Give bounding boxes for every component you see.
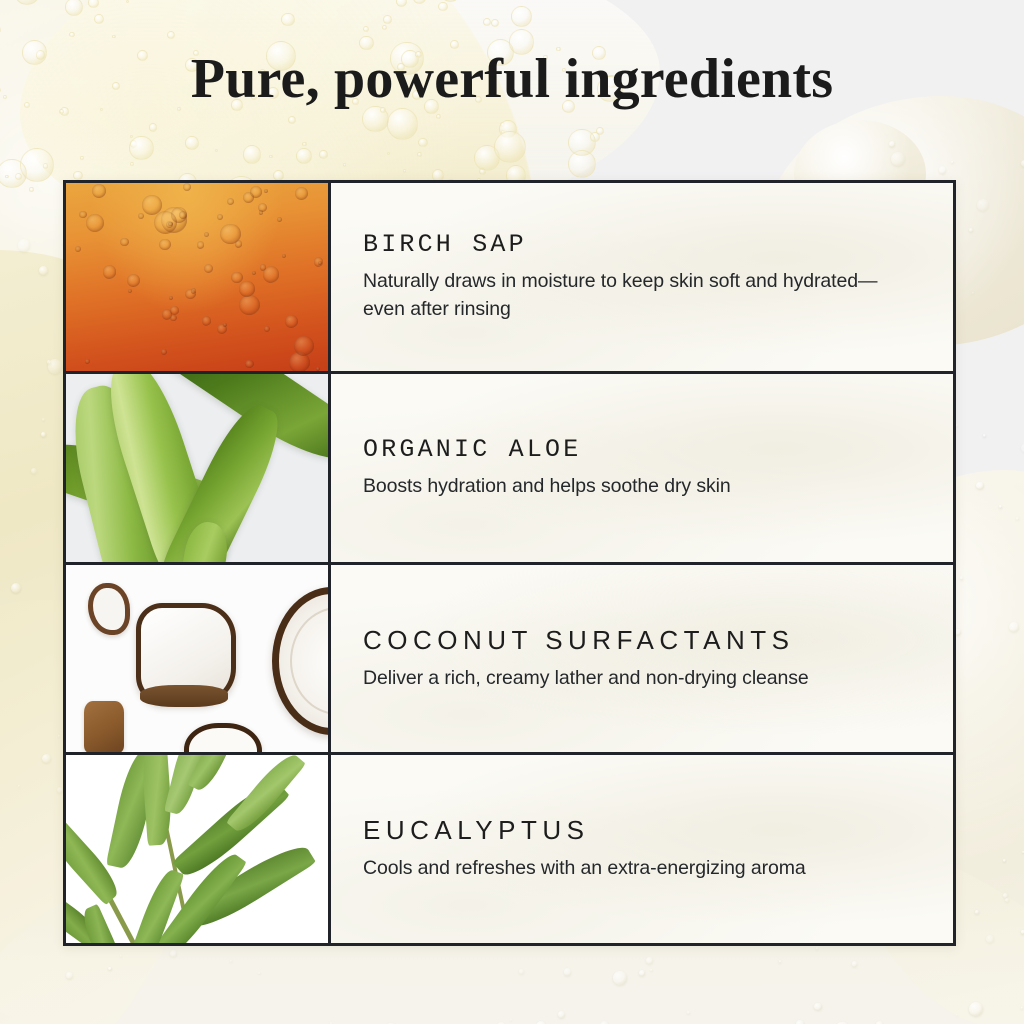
droplet (11, 583, 21, 593)
droplet (650, 969, 653, 972)
droplet (956, 1014, 958, 1016)
ingredient-description: Cools and refreshes with an extra-energi… (363, 855, 893, 883)
bubble (217, 214, 223, 220)
droplet (1016, 517, 1019, 520)
ingredient-name: COCONUT SURFACTANTS (363, 625, 927, 656)
bubble (260, 264, 267, 271)
droplet (41, 432, 46, 437)
bubble (154, 211, 177, 234)
bubble (227, 198, 235, 206)
table-row: COCONUT SURFACTANTS Deliver a rich, crea… (66, 565, 953, 756)
foam-bubble (80, 156, 83, 159)
droplet (646, 957, 653, 964)
foam-bubble (88, 0, 99, 8)
bubble (243, 192, 254, 203)
bubble (168, 222, 172, 226)
ingredient-description: Boosts hydration and helps soothe dry sk… (363, 473, 893, 501)
bubble (103, 265, 116, 278)
table-row: BIRCH SAP Naturally draws in moisture to… (66, 183, 953, 374)
bubble (245, 360, 254, 369)
bubble (86, 214, 104, 232)
ingredient-image-birch-sap (66, 183, 331, 371)
foam-bubble (243, 145, 262, 164)
bubble (282, 254, 286, 258)
foam-bubble (438, 2, 448, 12)
bubble (159, 239, 170, 250)
foam-bubble (568, 129, 596, 157)
foam-bubble (387, 108, 418, 139)
foam-bubble (343, 163, 347, 167)
foam-bubble (0, 159, 27, 189)
bubble (264, 189, 268, 193)
ingredient-text-birch-sap: BIRCH SAP Naturally draws in moisture to… (331, 183, 953, 371)
droplet (955, 629, 961, 635)
ingredient-name: BIRCH SAP (363, 230, 927, 259)
droplet (18, 239, 31, 252)
bubble (161, 349, 167, 355)
bubble (85, 359, 90, 364)
droplet (983, 434, 986, 437)
droplet (170, 950, 177, 957)
foam-bubble (65, 0, 83, 16)
ingredient-image-eucalyptus (66, 755, 331, 943)
bubble (285, 315, 298, 328)
droplet (230, 960, 232, 962)
foam-bubble (383, 15, 392, 24)
ingredient-text-organic-aloe: ORGANIC ALOE Boosts hydration and helps … (331, 374, 953, 562)
bubble (231, 272, 243, 284)
bubble (204, 264, 213, 273)
bubble (197, 241, 204, 248)
bubble (183, 183, 191, 191)
foam-bubble (129, 136, 153, 160)
bubble (204, 232, 210, 238)
bubble (294, 336, 314, 356)
ingredient-text-coconut: COCONUT SURFACTANTS Deliver a rich, crea… (331, 565, 953, 753)
droplet (66, 972, 73, 979)
bubble (295, 187, 309, 201)
foam-bubble (149, 123, 157, 131)
bubble (92, 184, 107, 199)
table-row: ORGANIC ALOE Boosts hydration and helps … (66, 374, 953, 565)
coconut-husk-edge (140, 685, 228, 707)
bubble (79, 211, 86, 218)
droplet (779, 960, 782, 963)
bubble (120, 238, 128, 246)
ingredient-name: EUCALYPTUS (363, 815, 927, 846)
bubble (239, 295, 259, 315)
droplet (39, 266, 48, 275)
bubble (169, 296, 173, 300)
foam-bubble (319, 150, 327, 158)
bubble (239, 281, 254, 296)
bubble (220, 224, 240, 244)
droplet (519, 969, 523, 973)
eucalyptus-photo (66, 755, 328, 943)
droplet (816, 947, 818, 949)
page-title: Pure, powerful ingredients (0, 48, 1024, 111)
droplet (796, 1020, 804, 1024)
droplet (558, 1011, 565, 1018)
droplet (564, 968, 571, 975)
eucalyptus-leaf-11 (226, 755, 306, 837)
coconut-husk-chip (84, 701, 124, 753)
birch-sap-photo (66, 183, 328, 371)
droplet (976, 482, 984, 490)
droplet (687, 1011, 690, 1014)
ingredient-text-eucalyptus: EUCALYPTUS Cools and refreshes with an e… (331, 755, 953, 943)
foam-bubble (281, 13, 295, 27)
bubble (252, 271, 256, 275)
bubble (138, 213, 144, 219)
bubble (202, 316, 212, 326)
droplet (31, 468, 37, 474)
ingredient-description: Deliver a rich, creamy lather and non-dr… (363, 665, 893, 693)
bubble (264, 326, 271, 333)
coconut-photo (66, 565, 328, 753)
bubble (316, 367, 320, 371)
droplet (47, 360, 51, 364)
ingredient-description: Naturally draws in moisture to keep skin… (363, 268, 893, 323)
droplet (120, 955, 122, 957)
ingredient-image-organic-aloe (66, 374, 331, 562)
ingredients-table: BIRCH SAP Naturally draws in moisture to… (63, 180, 956, 946)
droplet (613, 971, 627, 985)
foam-bubble (29, 187, 33, 191)
bubble (128, 289, 132, 293)
ingredient-name: ORGANIC ALOE (363, 435, 927, 464)
bubble (170, 315, 177, 322)
droplet (939, 166, 947, 174)
ingredient-image-coconut (66, 565, 331, 753)
foam-bubble (269, 155, 273, 159)
bubble (277, 217, 282, 222)
bubble (127, 274, 140, 287)
foam-bubble (382, 25, 387, 30)
table-row: EUCALYPTUS Cools and refreshes with an e… (66, 755, 953, 943)
droplet (999, 505, 1002, 508)
droplet (852, 961, 857, 966)
foam-bubble (5, 175, 8, 178)
foam-bubble (418, 138, 428, 148)
foam-bubble (511, 6, 532, 27)
coconut-shard-top-left (88, 583, 130, 635)
droplet (975, 910, 979, 914)
coconut-bottom-piece (184, 723, 262, 753)
bubble (75, 246, 82, 253)
organic-aloe-photo (66, 374, 328, 562)
foam-bubble (69, 32, 74, 37)
droplet (1003, 859, 1006, 862)
foam-bubble (126, 0, 129, 3)
bubble (258, 203, 267, 212)
foam-bubble (185, 136, 199, 150)
